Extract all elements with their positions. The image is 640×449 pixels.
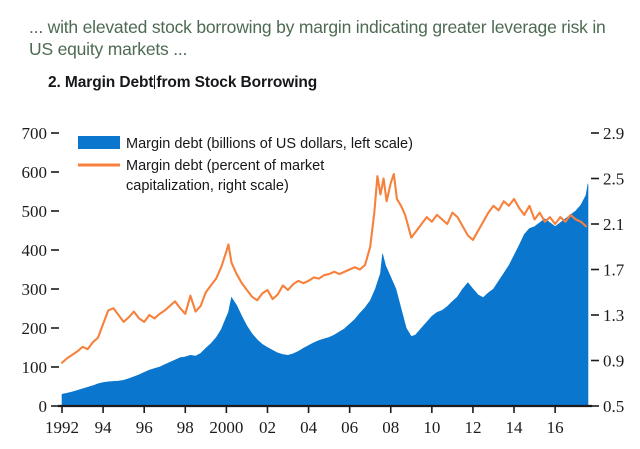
legend-label-margin-debt-percent-line2: capitalization, right scale) — [126, 178, 289, 194]
legend-swatch-margin-debt-billions — [78, 136, 120, 149]
y-axis-left-tick-label: 400 — [22, 241, 48, 260]
x-axis-tick-label: 96 — [136, 418, 153, 437]
x-axis-tick-label: 2000 — [209, 418, 243, 437]
plot-area — [62, 174, 588, 406]
y-axis-left-tick-label: 600 — [22, 163, 48, 182]
y-axis-right-tick-label: 2.9 — [603, 124, 624, 143]
x-axis-tick-label: 02 — [259, 418, 276, 437]
y-axis-right-tick-label: 1.7 — [603, 261, 625, 280]
chart-legend: Margin debt (billions of US dollars, lef… — [78, 136, 413, 194]
x-axis-tick-label: 06 — [341, 418, 358, 437]
y-axis-right-tick-label: 2.1 — [603, 215, 624, 234]
y-axis-left-tick-label: 0 — [39, 397, 48, 416]
x-axis-tick-label: 94 — [95, 418, 113, 437]
chart-svg: 1992949698200002040608101214160100200300… — [0, 0, 640, 449]
y-axis-right-tick-label: 2.5 — [603, 170, 624, 189]
x-axis-tick-label: 04 — [300, 418, 318, 437]
y-axis-right-tick-label: 1.3 — [603, 306, 624, 325]
y-axis-left-tick-label: 300 — [22, 280, 48, 299]
figure-container: ... with elevated stock borrowing by mar… — [0, 0, 640, 449]
y-axis-left-tick-label: 500 — [22, 202, 48, 221]
x-axis-tick-label: 16 — [547, 418, 564, 437]
x-axis-tick-label: 08 — [382, 418, 399, 437]
legend-label-margin-debt-billions: Margin debt (billions of US dollars, lef… — [126, 136, 413, 152]
x-axis-tick-label: 98 — [177, 418, 194, 437]
x-axis-tick-label: 14 — [506, 418, 524, 437]
area-series-margin-debt-billions — [62, 184, 588, 406]
y-axis-left-tick-label: 200 — [22, 319, 48, 338]
y-axis-right-tick-label: 0.9 — [603, 352, 624, 371]
x-axis-tick-label: 10 — [423, 418, 440, 437]
y-axis-left-tick-label: 100 — [22, 358, 48, 377]
x-axis-tick-label: 12 — [464, 418, 481, 437]
y-axis-left-tick-label: 700 — [22, 124, 48, 143]
legend-label-margin-debt-percent: Margin debt (percent of market — [126, 158, 324, 174]
y-axis-right-tick-label: 0.5 — [603, 397, 624, 416]
x-axis-tick-label: 1992 — [45, 418, 79, 437]
